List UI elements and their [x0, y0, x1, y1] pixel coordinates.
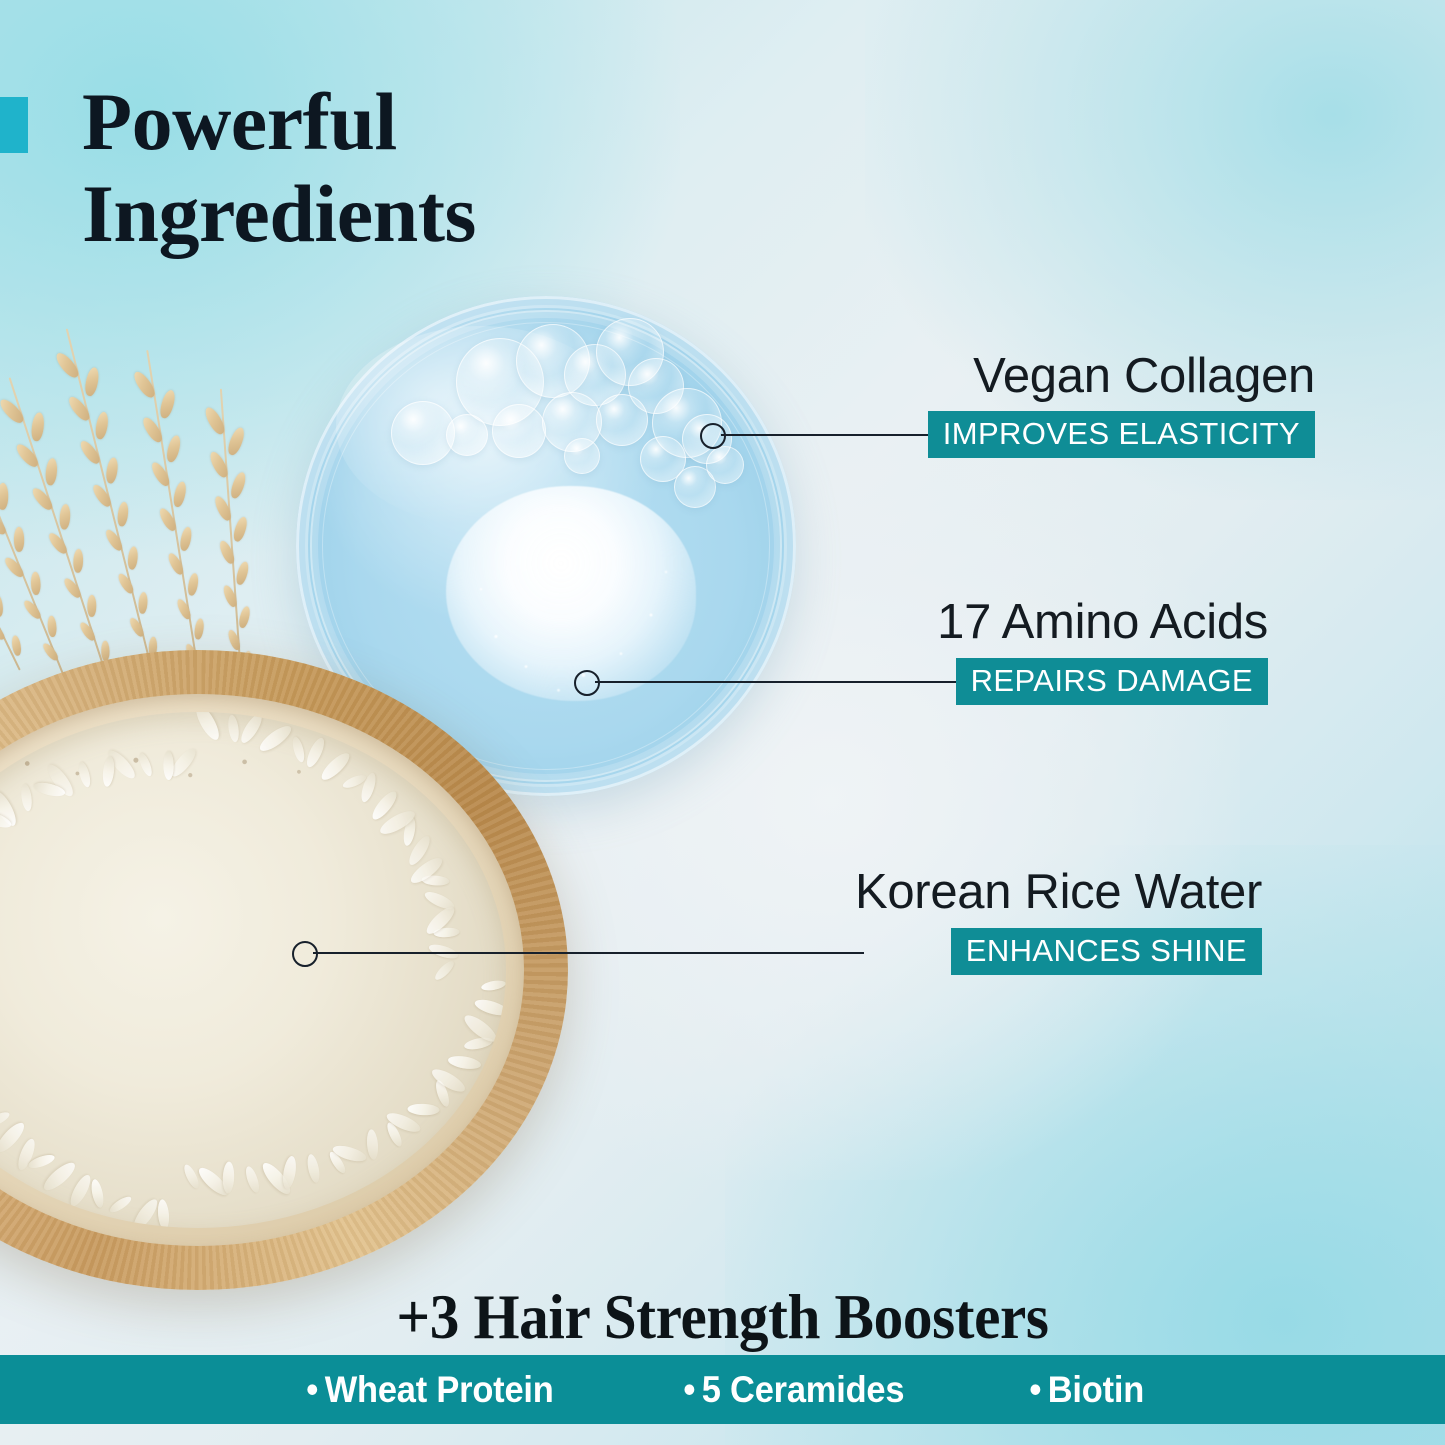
booster-item-ceramides: •5 Ceramides — [683, 1369, 904, 1411]
gel-bubble — [564, 438, 600, 474]
callout-badge-vegan-collagen: IMPROVES ELASTICITY — [928, 411, 1315, 458]
rice-grain-head — [103, 527, 124, 552]
callout-badge-korean-rice-water: ENHANCES SHINE — [951, 928, 1262, 975]
rice-stalk — [213, 388, 250, 688]
rice-grain-head — [116, 501, 129, 527]
booster-label-wheat-protein: Wheat Protein — [325, 1369, 554, 1410]
rice-grain-head — [30, 486, 55, 513]
leader-line-collagen — [721, 434, 932, 436]
rice-grain-head — [193, 618, 205, 640]
rice-grain — [473, 997, 506, 1019]
rice-grain-head — [46, 531, 69, 556]
callout-name-amino-acids: 17 Amino Acids — [937, 594, 1268, 650]
callout-badge-amino-acids: REPAIRS DAMAGE — [956, 658, 1268, 705]
rice-grain — [481, 979, 506, 992]
rice-grain-head — [14, 527, 24, 552]
rice-grain — [447, 1054, 482, 1071]
rice-grain-head — [13, 441, 40, 469]
rice-grain-head — [30, 412, 45, 442]
rice-grain-head — [232, 516, 250, 543]
rice-grain-head — [53, 350, 81, 381]
booster-item-wheat-protein: •Wheat Protein — [306, 1369, 553, 1411]
rice-grain-head — [179, 526, 194, 552]
rice-grain — [67, 1172, 94, 1208]
rice-grain — [222, 1162, 234, 1194]
rice-grain-head — [44, 458, 58, 486]
leader-line-amino — [595, 681, 968, 683]
booster-item-biotin: •Biotin — [1029, 1369, 1144, 1411]
rice-grain-head — [62, 576, 83, 600]
rice-grain-head — [115, 572, 135, 596]
rice-grain-head — [157, 506, 178, 533]
gel-bubble — [492, 404, 546, 458]
rice-grain — [429, 1065, 468, 1096]
rice-grain-head — [91, 483, 114, 510]
page-title-line-1: Powerful — [82, 76, 722, 168]
rice-grain-head — [186, 572, 199, 596]
rice-grain — [306, 1153, 322, 1184]
rice-grain — [181, 1163, 201, 1191]
rice-grain-head — [226, 629, 242, 652]
rice-grain-head — [30, 571, 40, 595]
rice-grain-head — [87, 595, 96, 617]
rice-grain-head — [105, 457, 119, 484]
bullet-icon: • — [306, 1369, 318, 1410]
heading-accent-square — [0, 97, 28, 153]
page-title: Powerful Ingredients — [82, 76, 722, 260]
rice-grain-head — [94, 412, 110, 441]
rice-grain — [281, 1155, 298, 1190]
callout-name-korean-rice-water: Korean Rice Water — [855, 864, 1262, 920]
rice-grain-head — [83, 367, 100, 398]
rice-grain-head — [2, 555, 26, 579]
rice-grain — [156, 1199, 169, 1228]
rice-grain-head — [148, 460, 171, 488]
rice-grain — [366, 1129, 379, 1160]
rice-grain-head — [47, 616, 57, 638]
rice-grain-head — [65, 394, 92, 423]
rice-grain — [130, 1196, 161, 1228]
rice-grain-head — [235, 560, 251, 585]
rice-grain-head — [0, 594, 4, 617]
rice-grain-head — [222, 584, 240, 609]
leader-dot-ricewater — [292, 941, 318, 967]
rice-grain-head — [138, 591, 148, 613]
rice-grain-head — [158, 389, 177, 420]
rice-grain — [89, 1178, 105, 1209]
boosters-bar: •Wheat Protein •5 Ceramides •Biotin — [0, 1355, 1445, 1424]
rice-grain — [243, 1164, 261, 1193]
rice-grain-head — [73, 549, 84, 573]
page-title-line-2: Ingredients — [82, 168, 722, 260]
rice-grain-head — [0, 483, 8, 510]
infographic-canvas: Powerful Ingredients Vegan Collagen IMPR… — [0, 0, 1445, 1445]
rice-grain-head — [225, 426, 246, 457]
leader-line-ricewater — [313, 952, 864, 954]
callout-name-vegan-collagen: Vegan Collagen — [973, 348, 1315, 404]
rice-grain-head — [172, 480, 188, 507]
leader-dot-amino — [574, 670, 600, 696]
rice-grain-head — [128, 616, 146, 638]
rice-grain-head — [238, 605, 252, 629]
rice-grain-head — [78, 438, 103, 466]
rice-grain-head — [127, 546, 139, 570]
boosters-title: +3 Hair Strength Boosters — [43, 1281, 1401, 1354]
gel-bubble — [446, 414, 488, 456]
rice-water-bowl-image — [0, 650, 568, 1290]
leader-dot-collagen — [700, 423, 726, 449]
rice-grain-head — [166, 551, 186, 576]
rice-grain — [433, 959, 457, 983]
rice-grain-head — [175, 597, 193, 620]
booster-label-biotin: Biotin — [1047, 1369, 1143, 1410]
bullet-icon: • — [683, 1369, 695, 1410]
gel-bubble — [596, 394, 648, 446]
gel-bubble — [706, 446, 744, 484]
rice-grain-head — [165, 435, 183, 464]
rice-grain-head — [228, 471, 247, 500]
rice-grain — [408, 1103, 440, 1116]
rice-grain-head — [59, 503, 71, 529]
bullet-icon: • — [1029, 1369, 1041, 1410]
rice-grain — [0, 1110, 11, 1130]
rice-grain — [108, 1194, 134, 1215]
booster-label-ceramides: 5 Ceramides — [702, 1369, 905, 1410]
